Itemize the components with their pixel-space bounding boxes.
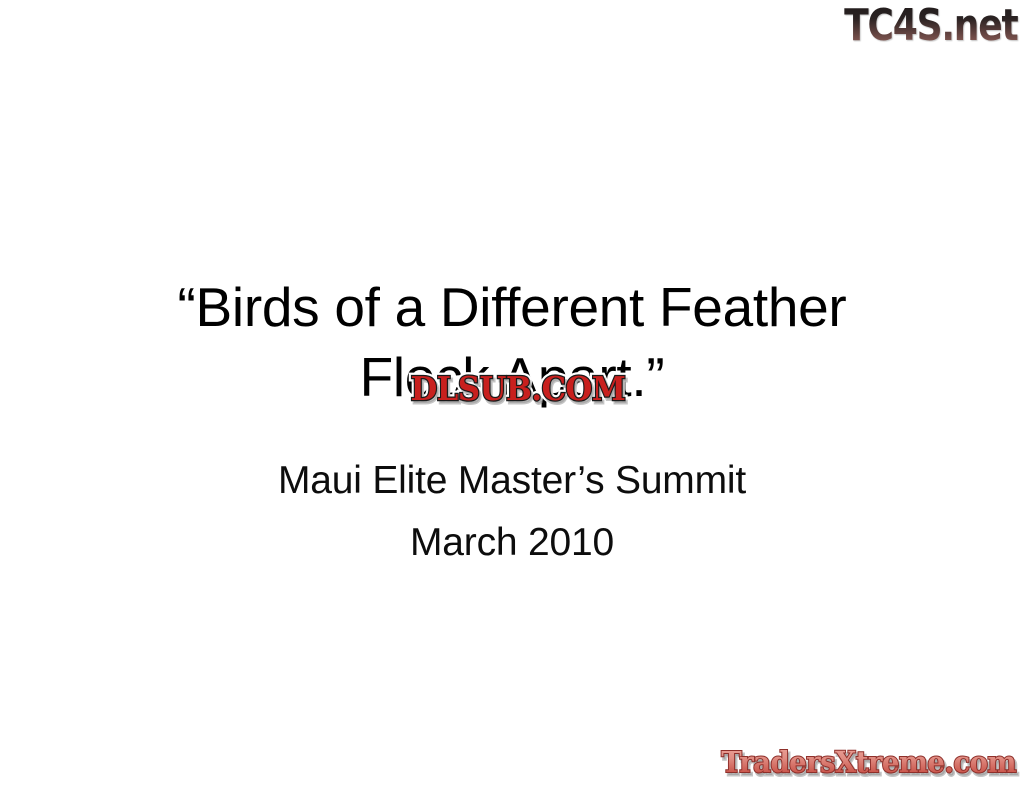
subtitle-line-date: March 2010	[0, 512, 1024, 574]
slide-subtitle: Maui Elite Master’s Summit March 2010	[0, 450, 1024, 574]
presentation-slide: “Birds of a Different Feather Flock Apar…	[0, 0, 1024, 791]
watermark-dlsub-face: DLSUB.COM	[379, 369, 658, 409]
watermark-tradersxtreme: TradersXtreme.com TradersXtreme.com Trad…	[686, 741, 1016, 781]
watermark-tc4s: TC4S.net	[845, 2, 1018, 50]
watermark-tradersxtreme-face: TradersXtreme.com	[703, 743, 1017, 781]
subtitle-line-event: Maui Elite Master’s Summit	[0, 450, 1024, 512]
title-line-1: “Birds of a Different Feather	[0, 272, 1024, 342]
watermark-dlsub: DLSUB.COM DLSUB.COM DLSUB.COM DLSUB.COM	[368, 369, 668, 409]
